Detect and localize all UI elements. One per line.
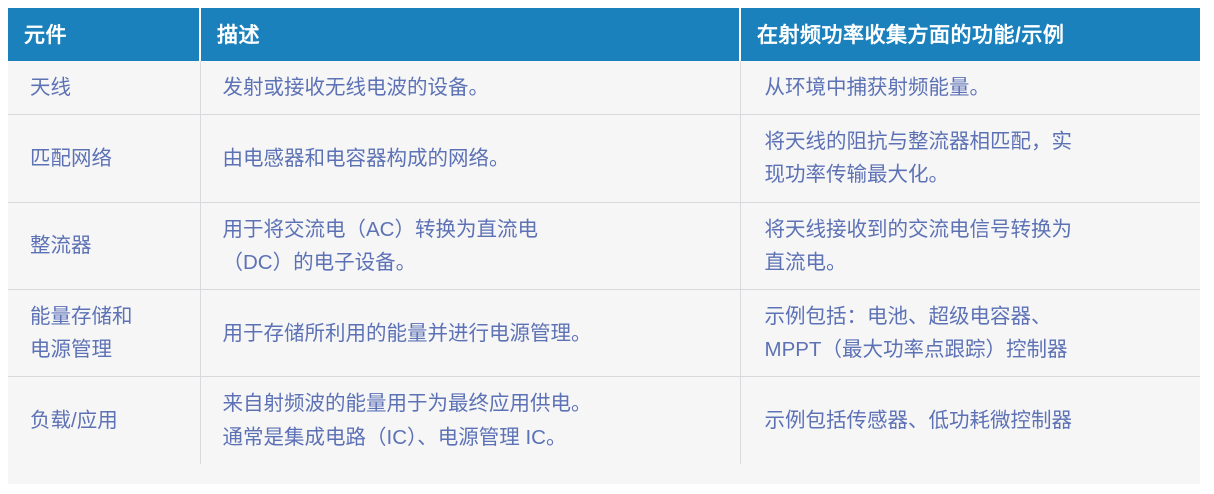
cell-line: 来自射频波的能量用于为最终应用供电。 xyxy=(223,387,724,420)
cell-line: 直流电。 xyxy=(765,246,1185,279)
cell-function: 将天线的阻抗与整流器相匹配，实 现功率传输最大化。 xyxy=(740,115,1200,202)
cell-function: 示例包括：电池、超级电容器、 MPPT（最大功率点跟踪）控制器 xyxy=(740,290,1200,377)
cell-line: 电源管理 xyxy=(30,333,184,366)
page-root: 元件 描述 在射频功率收集方面的功能/示例 天线 发射或接收无线电波的设备。 从… xyxy=(0,0,1214,494)
cell-component: 能量存储和 电源管理 xyxy=(8,290,200,377)
table-row: 匹配网络 由电感器和电容器构成的网络。 将天线的阻抗与整流器相匹配，实 现功率传… xyxy=(8,115,1200,202)
table-row: 负载/应用 来自射频波的能量用于为最终应用供电。 通常是集成电路（IC）、电源管… xyxy=(8,377,1200,464)
spec-table-container: 元件 描述 在射频功率收集方面的功能/示例 天线 发射或接收无线电波的设备。 从… xyxy=(8,8,1200,484)
cell-line: 负载/应用 xyxy=(30,404,184,437)
cell-component: 整流器 xyxy=(8,202,200,289)
cell-component: 天线 xyxy=(8,61,200,115)
cell-line: 用于将交流电（AC）转换为直流电 xyxy=(223,213,724,246)
cell-line: 匹配网络 xyxy=(30,142,184,175)
cell-function: 从环境中捕获射频能量。 xyxy=(740,61,1200,115)
header-row: 元件 描述 在射频功率收集方面的功能/示例 xyxy=(8,8,1200,61)
column-header-description: 描述 xyxy=(200,8,740,61)
cell-line: 整流器 xyxy=(30,229,184,262)
cell-line: 通常是集成电路（IC）、电源管理 IC。 xyxy=(223,421,724,454)
cell-line: 示例包括传感器、低功耗微控制器 xyxy=(765,404,1185,437)
rf-harvesting-components-table: 元件 描述 在射频功率收集方面的功能/示例 天线 发射或接收无线电波的设备。 从… xyxy=(8,8,1200,464)
cell-description: 用于将交流电（AC）转换为直流电 （DC）的电子设备。 xyxy=(200,202,740,289)
cell-line: 能量存储和 xyxy=(30,300,184,333)
cell-line: MPPT（最大功率点跟踪）控制器 xyxy=(765,333,1185,366)
cell-line: 用于存储所利用的能量并进行电源管理。 xyxy=(223,317,724,350)
cell-component: 匹配网络 xyxy=(8,115,200,202)
cell-component: 负载/应用 xyxy=(8,377,200,464)
cell-function: 将天线接收到的交流电信号转换为 直流电。 xyxy=(740,202,1200,289)
table-row: 天线 发射或接收无线电波的设备。 从环境中捕获射频能量。 xyxy=(8,61,1200,115)
cell-description: 发射或接收无线电波的设备。 xyxy=(200,61,740,115)
table-header: 元件 描述 在射频功率收集方面的功能/示例 xyxy=(8,8,1200,61)
cell-line: 将天线的阻抗与整流器相匹配，实 xyxy=(765,125,1185,158)
table-body: 天线 发射或接收无线电波的设备。 从环境中捕获射频能量。 匹配网络 由电感器和电… xyxy=(8,61,1200,464)
column-header-function: 在射频功率收集方面的功能/示例 xyxy=(740,8,1200,61)
cell-description: 用于存储所利用的能量并进行电源管理。 xyxy=(200,290,740,377)
cell-line: 示例包括：电池、超级电容器、 xyxy=(765,300,1185,333)
cell-line: 现功率传输最大化。 xyxy=(765,158,1185,191)
column-header-component: 元件 xyxy=(8,8,200,61)
cell-line: 天线 xyxy=(30,71,184,104)
cell-description: 由电感器和电容器构成的网络。 xyxy=(200,115,740,202)
cell-line: 由电感器和电容器构成的网络。 xyxy=(223,142,724,175)
cell-description: 来自射频波的能量用于为最终应用供电。 通常是集成电路（IC）、电源管理 IC。 xyxy=(200,377,740,464)
cell-line: 将天线接收到的交流电信号转换为 xyxy=(765,213,1185,246)
cell-line: 从环境中捕获射频能量。 xyxy=(765,71,1185,104)
cell-line: （DC）的电子设备。 xyxy=(223,246,724,279)
cell-line: 发射或接收无线电波的设备。 xyxy=(223,71,724,104)
table-row: 整流器 用于将交流电（AC）转换为直流电 （DC）的电子设备。 将天线接收到的交… xyxy=(8,202,1200,289)
table-row: 能量存储和 电源管理 用于存储所利用的能量并进行电源管理。 示例包括：电池、超级… xyxy=(8,290,1200,377)
cell-function: 示例包括传感器、低功耗微控制器 xyxy=(740,377,1200,464)
